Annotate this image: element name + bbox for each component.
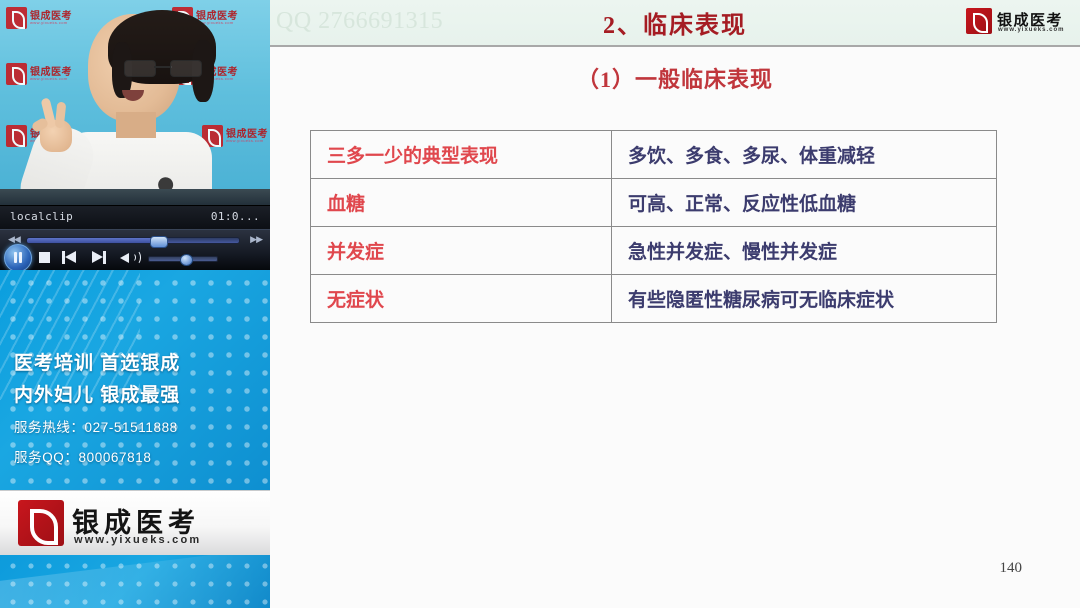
seek-slider[interactable] [26,237,240,244]
promo-qq: 服务QQ：800067818 [14,446,151,466]
row-key: 无症状 [311,275,612,323]
clip-time-label: 01:0... [211,210,260,223]
row-key: 三多一少的典型表现 [311,131,612,179]
slide-area: QQ 2766691315 2、临床表现 银成医考 www.yixueks.co… [270,0,1080,608]
promo-hotline: 服务热线：027-51511888 [14,416,178,436]
table-row: 无症状 有些隐匿性糖尿病可无临床症状 [311,275,997,323]
row-value: 有些隐匿性糖尿病可无临床症状 [612,275,997,323]
app-root: 银成医考 www.yixueks.com 银成医考 www.yixueks.co… [0,0,1080,608]
table-row: 血糖 可高、正常、反应性低血糖 [311,179,997,227]
table-row: 并发症 急性并发症、慢性并发症 [311,227,997,275]
volume-icon[interactable] [120,250,140,265]
lecturer-neck [116,112,156,138]
row-value: 多饮、多食、多尿、体重减轻 [612,131,997,179]
brand-mark-icon [6,63,27,85]
clip-info-strip: localclip 01:0... [0,205,270,230]
promo-line-1: 医考培训 首选银成 [14,348,180,375]
page-title: 2、临床表现 [270,5,1080,40]
stop-button[interactable] [39,252,50,263]
player-controls: ◀◀ ▶▶ [0,229,270,271]
slide-header: QQ 2766691315 2、临床表现 银成医考 www.yixueks.co… [270,0,1080,47]
brand-mark-icon [966,8,992,34]
row-value: 可高、正常、反应性低血糖 [612,179,997,227]
seek-fill [27,238,158,243]
video-player-panel: 银成医考 www.yixueks.com 银成医考 www.yixueks.co… [0,0,270,608]
lecturer-hand [34,100,78,154]
promo-banner-bottom [0,555,270,608]
promo-line-2: 内外妇儿 银成最强 [14,380,180,407]
row-key: 血糖 [311,179,612,227]
volume-thumb[interactable] [180,254,193,266]
brand-url-label: www.yixueks.com [74,534,201,546]
row-value: 急性并发症、慢性并发症 [612,227,997,275]
row-key: 并发症 [311,227,612,275]
pause-button[interactable] [4,244,32,272]
promo-banner: 医考培训 首选银成 内外妇儿 银成最强 服务热线：027-51511888 服务… [0,270,270,490]
brand-mark-icon [6,125,27,147]
backdrop-logo: 银成医考 www.yixueks.com [202,124,264,150]
backdrop-logo: 银成医考 www.yixueks.com [6,62,68,88]
header-brand-logo: 银成医考 www.yixueks.com [966,8,1074,38]
lecturer-head [88,14,180,122]
brand-mark-icon [18,500,64,546]
seek-row: ◀◀ ▶▶ [0,233,270,245]
lecturer-figure [60,8,210,205]
lecture-desk [0,189,270,205]
clinical-features-table: 三多一少的典型表现 多饮、多食、多尿、体重减轻 血糖 可高、正常、反应性低血糖 … [310,130,997,323]
slide-subtitle: （1）一般临床表现 [270,62,1080,94]
video-stage[interactable]: 银成医考 www.yixueks.com 银成医考 www.yixueks.co… [0,0,270,205]
brand-logo-bar: 银成医考 www.yixueks.com [0,490,270,556]
fast-forward-icon[interactable]: ▶▶ [250,234,262,245]
clip-name-label: localclip [10,210,73,223]
glasses-icon [124,60,202,76]
page-number: 140 [1000,560,1023,577]
brand-mark-icon [6,7,27,29]
backdrop-logo: 银成医考 www.yixueks.com [6,6,68,32]
previous-button[interactable] [62,251,76,264]
transport-buttons [0,245,270,271]
table-row: 三多一少的典型表现 多饮、多食、多尿、体重减轻 [311,131,997,179]
header-brand-url: www.yixueks.com [998,27,1064,33]
volume-slider[interactable] [148,256,218,262]
next-button[interactable] [92,251,106,264]
backdrop-logo-url: www.yixueks.com [226,138,264,143]
